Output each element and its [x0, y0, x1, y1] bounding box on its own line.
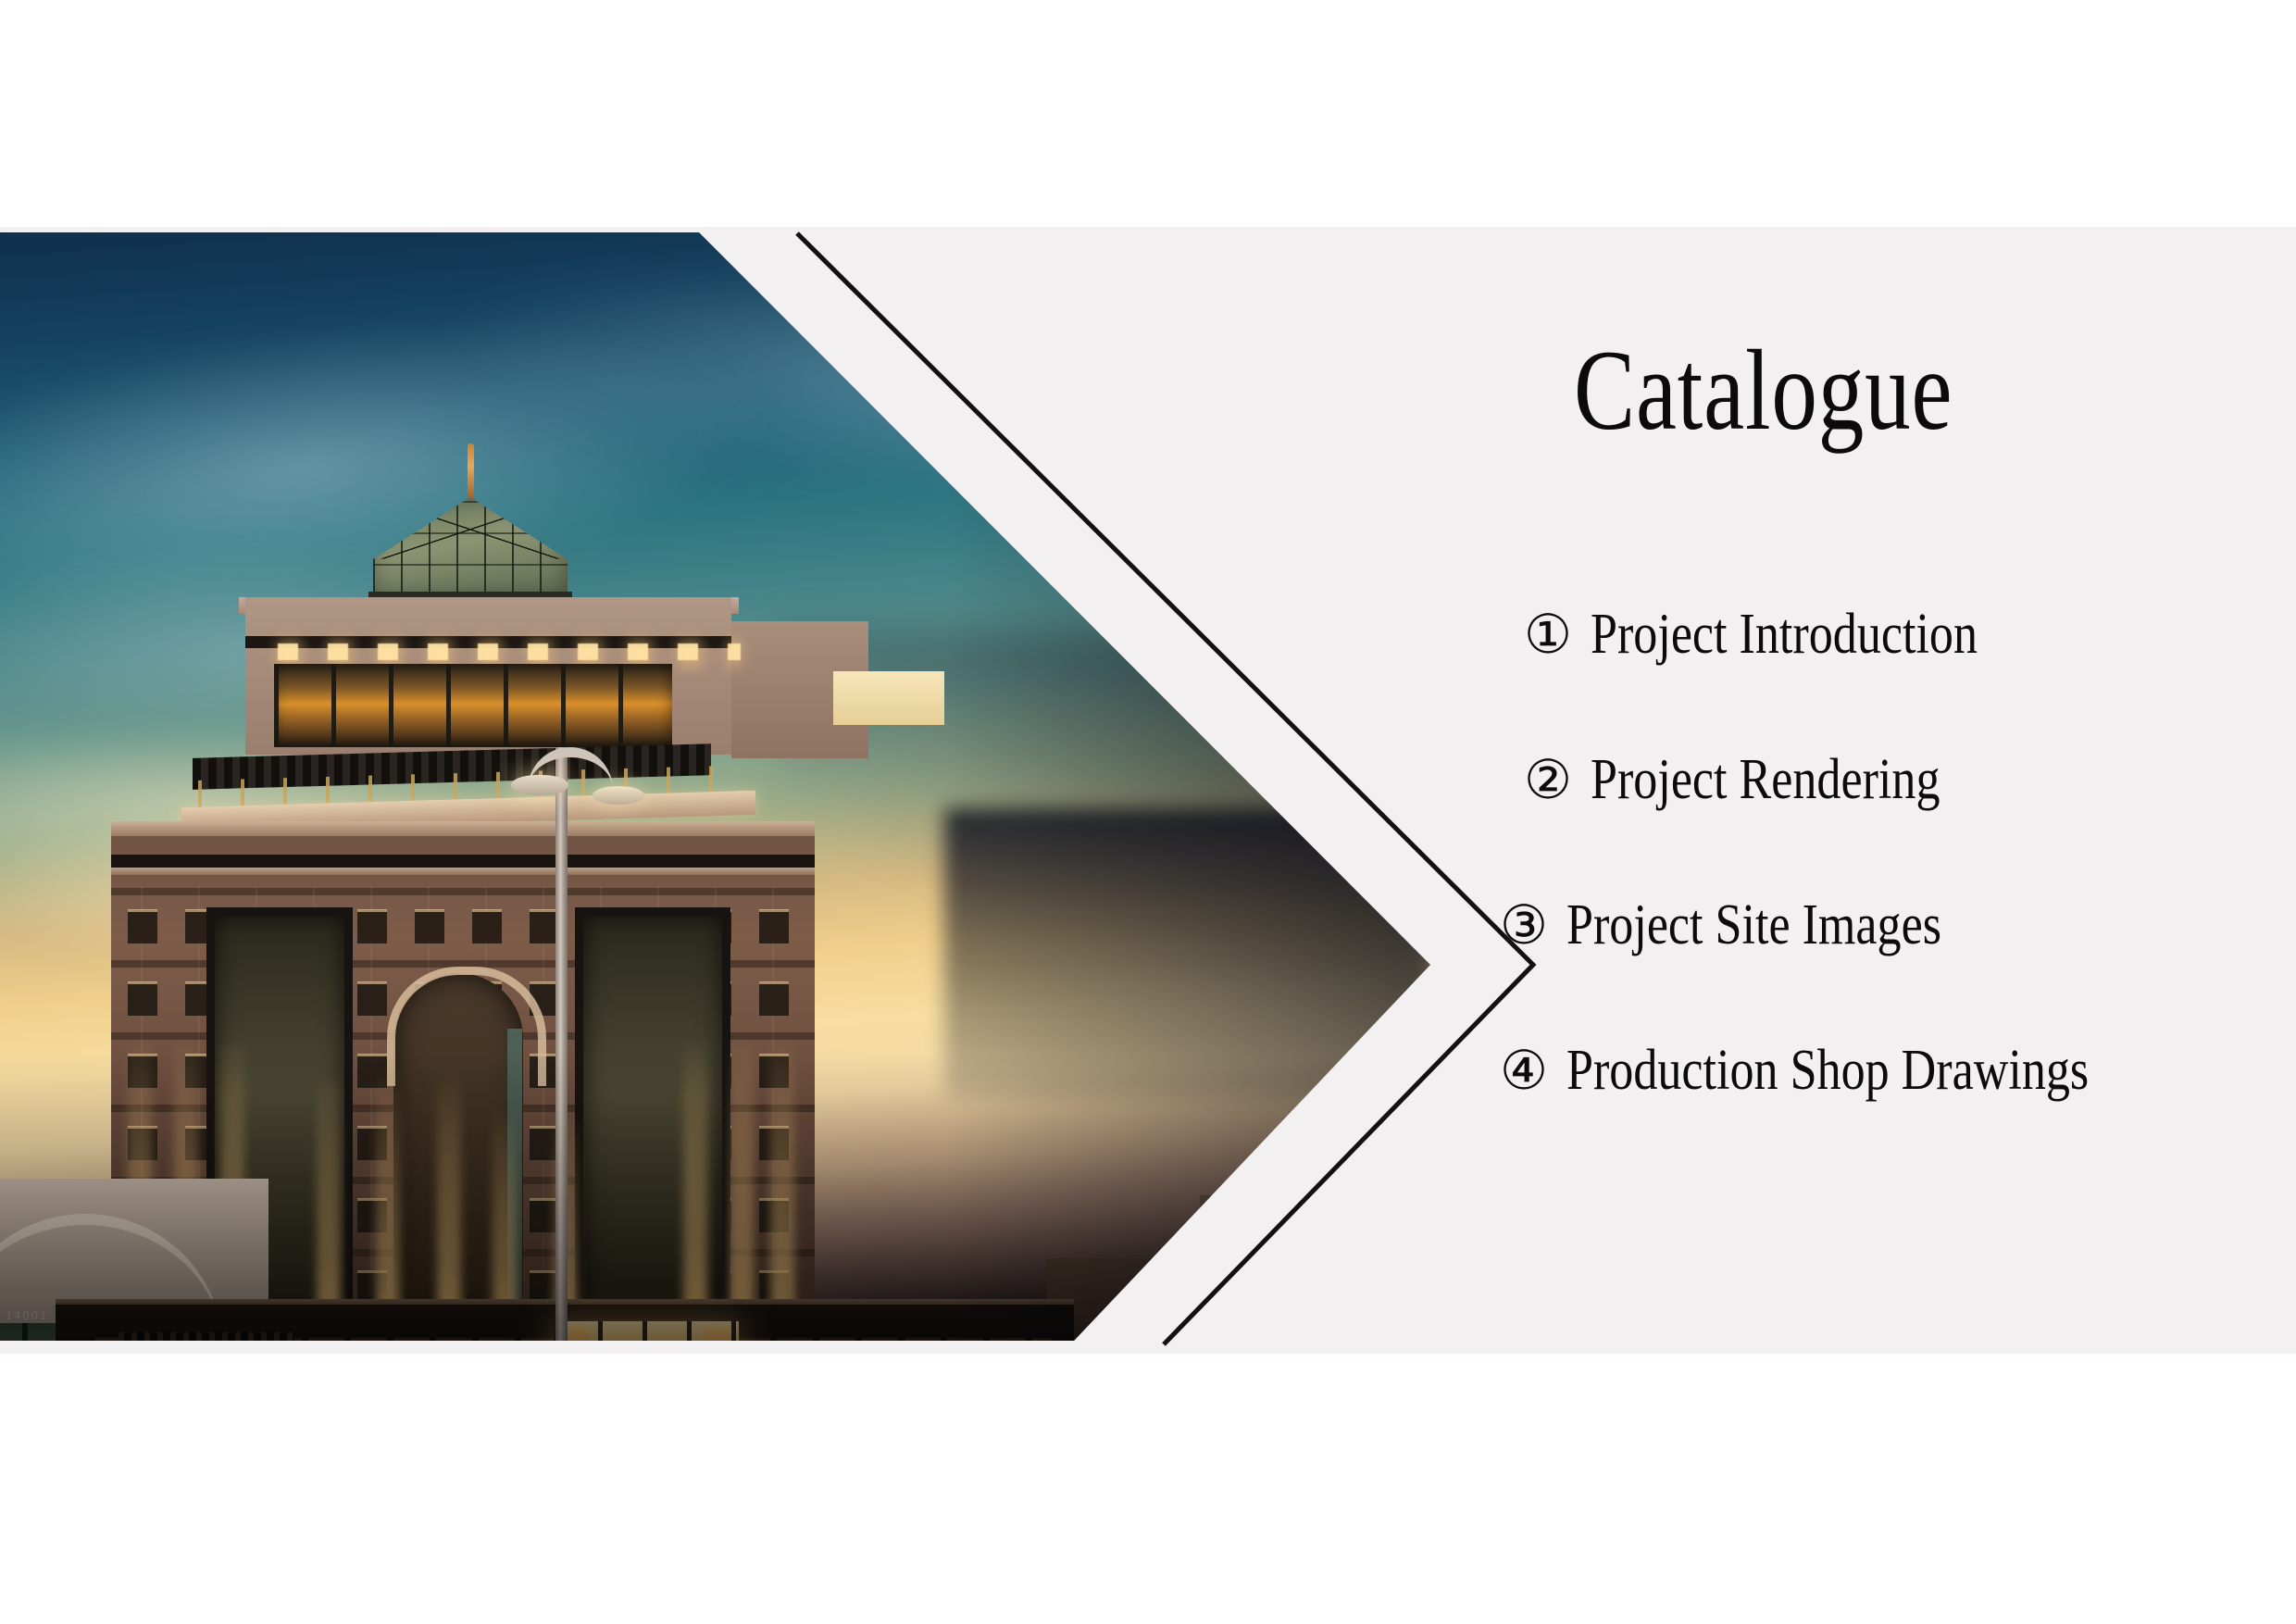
street-lamp-pole [555, 747, 568, 1341]
penthouse-downlights [278, 643, 741, 660]
toc-item-project-site-images[interactable]: ③ Project Site Images [1500, 893, 2296, 958]
toc-number-icon-2: ② [1524, 754, 1572, 807]
roof-spire [468, 443, 474, 499]
penthouse-signboard [833, 671, 944, 725]
toc-label-1: Project Introduction [1591, 602, 1978, 668]
restaurant-mullions [274, 664, 672, 747]
table-of-contents: ① Project Introduction ② Project Renderi… [1500, 602, 2296, 1183]
toc-number-icon-4: ④ [1500, 1044, 1548, 1098]
toc-number-icon-1: ① [1524, 608, 1572, 662]
toc-label-3: Project Site Images [1566, 893, 1941, 958]
timber-louvre-screen [119, 1332, 294, 1341]
tower-shadow-band [111, 855, 815, 868]
pavilion-address-number: 14001 [6, 1308, 48, 1322]
slide-root: 14001 GRAND OTEL [0, 0, 2296, 1624]
toc-label-4: Production Shop Drawings [1566, 1038, 2089, 1104]
toc-item-project-rendering[interactable]: ② Project Rendering [1524, 747, 2296, 813]
tower-cornice [111, 821, 815, 836]
street-lamp-head-second [593, 786, 644, 805]
page-title: Catalogue [1574, 333, 2092, 448]
street-lamp-head [511, 775, 568, 795]
toc-item-production-shop-drawings[interactable]: ④ Production Shop Drawings [1500, 1038, 2296, 1104]
toc-label-2: Project Rendering [1591, 747, 1940, 813]
entrance-mullions [554, 1321, 739, 1341]
toc-number-icon-3: ③ [1500, 899, 1548, 953]
tower-stringcourse [111, 868, 815, 875]
toc-item-project-introduction[interactable]: ① Project Introduction [1524, 602, 2296, 668]
